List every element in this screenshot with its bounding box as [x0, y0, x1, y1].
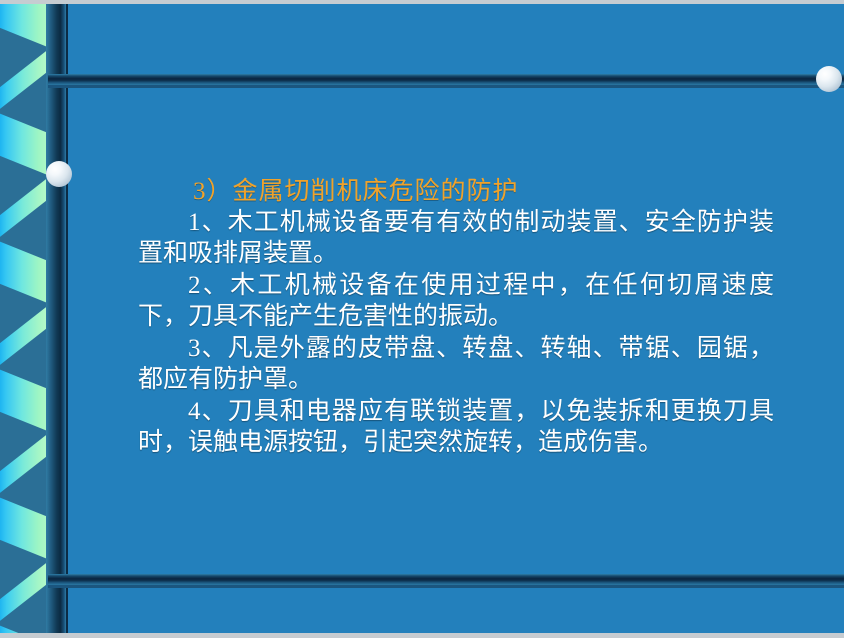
- ribbon-fold: [0, 176, 46, 240]
- ribbon-fold: [0, 496, 46, 560]
- ribbon-segment: [0, 176, 46, 240]
- ribbon-fold: [0, 240, 46, 304]
- presentation-slide: 3）金属切削机床危险的防护 1、木工机械设备要有有效的制动装置、安全防护装置和吸…: [0, 0, 844, 638]
- ribbon-fold: [0, 112, 46, 176]
- ribbon-fold: [0, 624, 46, 633]
- body-paragraph: 1、木工机械设备要有有效的制动装置、安全防护装置和吸排屑装置。: [138, 207, 774, 269]
- ribbon-segment: [0, 560, 46, 624]
- ribbon-fold: [0, 368, 46, 432]
- vertical-rail-decoration: [46, 4, 66, 633]
- ribbon-fold: [0, 4, 46, 48]
- ribbon-segment: [0, 4, 46, 48]
- ribbon-decoration: [0, 4, 46, 633]
- ribbon-fold: [0, 560, 46, 624]
- ribbon-fold: [0, 304, 46, 368]
- ribbon-fold: [0, 48, 46, 112]
- slide-title: 3）金属切削机床危险的防护: [193, 171, 519, 207]
- slide-body: 1、木工机械设备要有有效的制动装置、安全防护装置和吸排屑装置。 2、木工机械设备…: [138, 207, 774, 459]
- ribbon-segment: [0, 112, 46, 176]
- divider-top: [48, 74, 844, 85]
- ribbon-segment: [0, 624, 46, 633]
- ribbon-segment: [0, 304, 46, 368]
- ribbon-fold: [0, 432, 46, 496]
- ribbon-segment: [0, 432, 46, 496]
- ribbon-segment: [0, 496, 46, 560]
- slide-content-area: 3）金属切削机床危险的防护 1、木工机械设备要有有效的制动装置、安全防护装置和吸…: [68, 85, 844, 565]
- body-paragraph: 4、刀具和电器应有联锁装置，以免装拆和更换刀具时，误触电源按钮，引起突然旋转，造…: [138, 396, 774, 458]
- divider-bottom: [48, 574, 844, 585]
- ribbon-segment: [0, 240, 46, 304]
- ribbon-segment: [0, 368, 46, 432]
- ribbon-segment: [0, 48, 46, 112]
- body-paragraph: 3、凡是外露的皮带盘、转盘、转轴、带锯、园锯，都应有防护罩。: [138, 333, 774, 395]
- body-paragraph: 2、木工机械设备在使用过程中，在任何切屑速度下，刀具不能产生危害性的振动。: [138, 270, 774, 332]
